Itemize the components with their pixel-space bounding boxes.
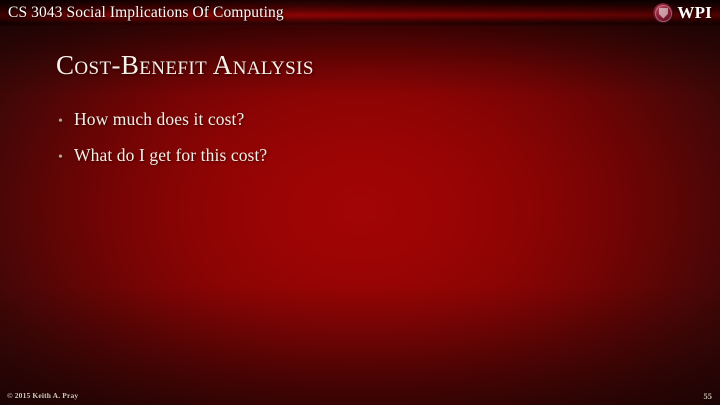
slide-title: Cost-Benefit Analysis — [56, 47, 314, 83]
course-title: CS 3043 Social Implications Of Computing — [8, 2, 284, 24]
background-bottom-shade — [0, 285, 720, 405]
list-item: • How much does it cost? — [58, 108, 658, 133]
bullet-text: How much does it cost? — [74, 108, 244, 131]
bullet-text: What do I get for this cost? — [74, 144, 267, 167]
slide-body: • How much does it cost? • What do I get… — [58, 108, 658, 180]
wpi-seal-icon — [653, 3, 673, 23]
wpi-logo: WPI — [653, 1, 712, 25]
bullet-point-icon: • — [58, 146, 74, 169]
bullet-point-icon: • — [58, 110, 74, 133]
presentation-slide: CS 3043 Social Implications Of Computing… — [0, 0, 720, 405]
list-item: • What do I get for this cost? — [58, 144, 658, 169]
wpi-wordmark: WPI — [677, 3, 712, 23]
slide-number: 55 — [704, 391, 713, 401]
copyright-notice: © 2015 Keith A. Pray — [7, 391, 78, 401]
